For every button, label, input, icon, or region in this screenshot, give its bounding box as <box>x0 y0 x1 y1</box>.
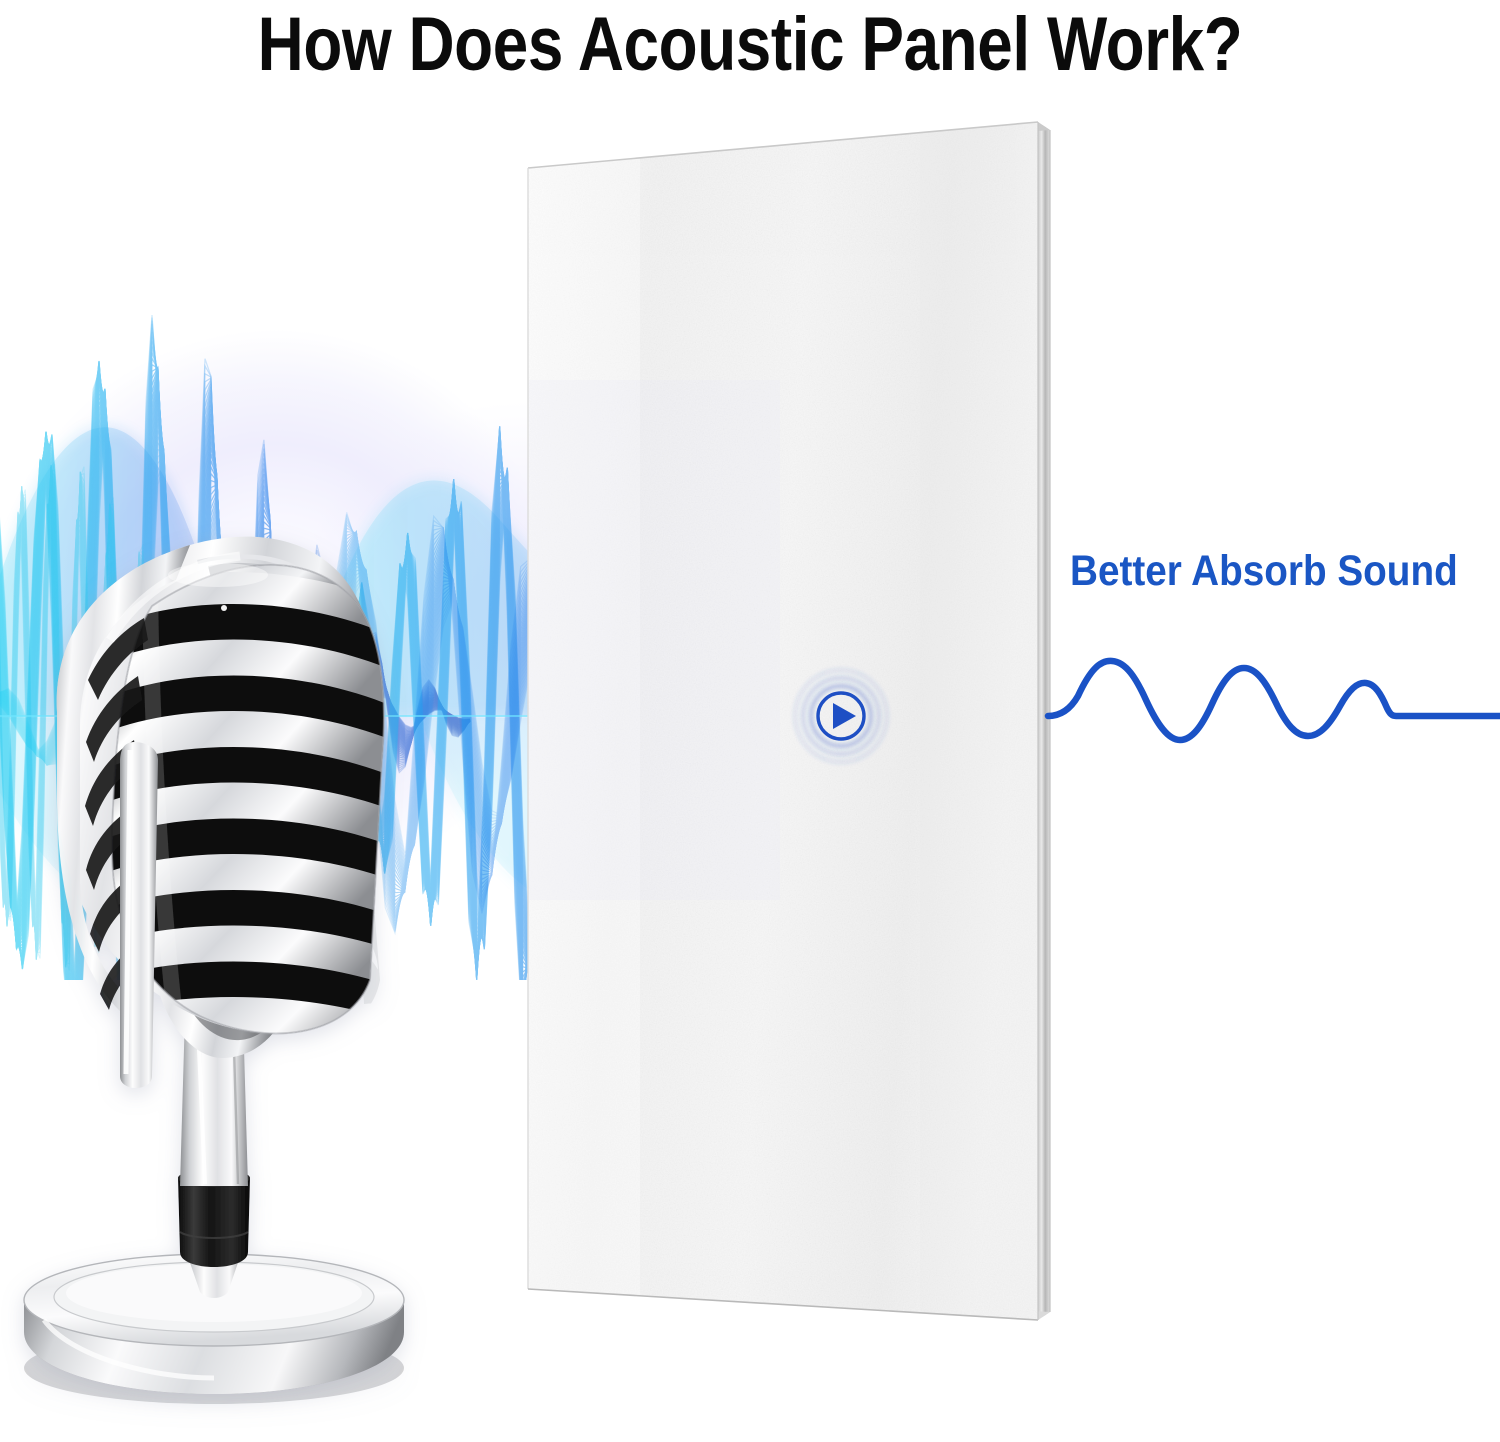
damped-sound-wave-icon <box>1048 661 1500 740</box>
right-side-graphics <box>0 0 1500 1442</box>
illustration-canvas: How Does Acoustic Panel Work? <box>0 0 1500 1442</box>
absorb-label: Better Absorb Sound <box>1070 546 1448 596</box>
play-icon <box>833 703 856 729</box>
